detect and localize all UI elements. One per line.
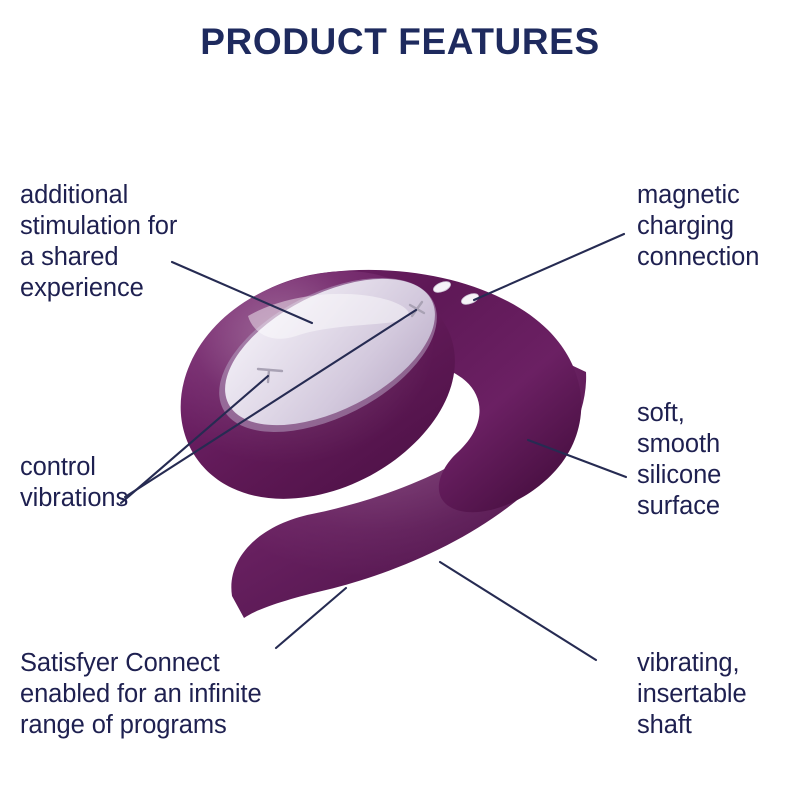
callout-additional-stimulation: additional stimulation for a shared expe… [20,180,255,304]
callout-control-vibrations: control vibrations [20,452,230,514]
callout-vibrating-shaft: vibrating, insertable shaft [637,648,800,741]
callout-satisfyer-connect: Satisfyer Connect enabled for an infinit… [20,648,360,741]
callout-magnetic-charging: magnetic charging connection [637,180,800,273]
product-features-infographic: PRODUCT FEATURES [0,0,800,800]
callout-soft-silicone: soft, smooth silicone surface [637,398,800,522]
